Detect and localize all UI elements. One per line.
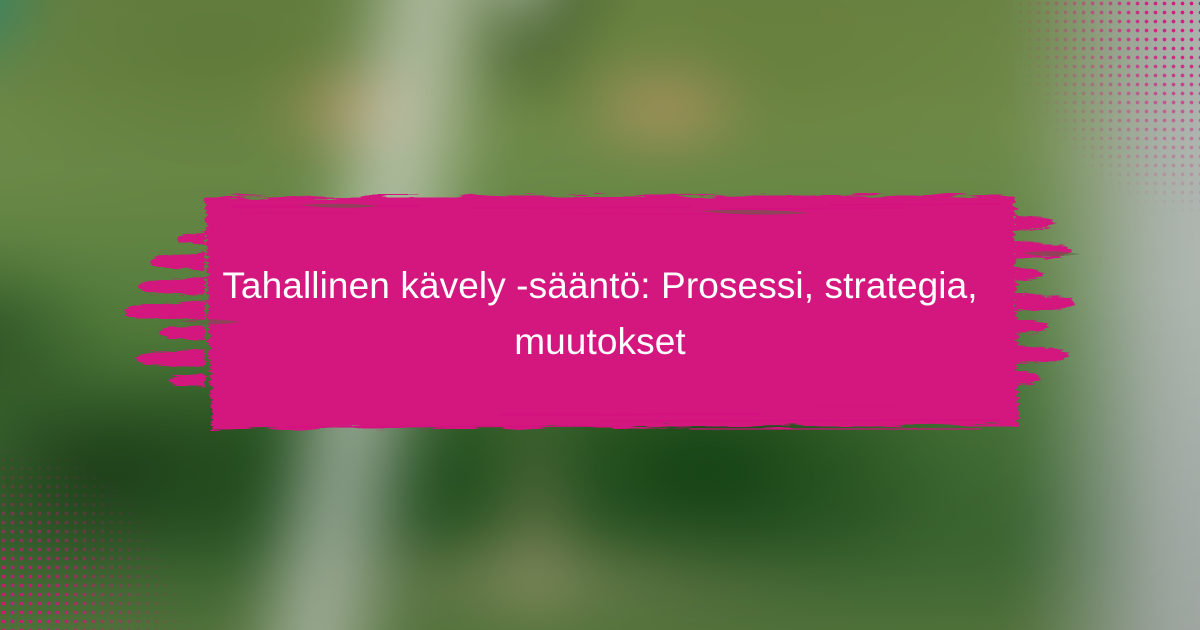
banner-title-block: Tahallinen kävely -sääntö: Prosessi, str… xyxy=(150,193,1050,431)
title-banner: Tahallinen kävely -sääntö: Prosessi, str… xyxy=(0,193,1200,431)
page-title-line-2: muutokset xyxy=(514,314,686,370)
page-title-line-1: Tahallinen kävely -sääntö: Prosessi, str… xyxy=(222,258,977,314)
share-card-canvas: Tahallinen kävely -sääntö: Prosessi, str… xyxy=(0,0,1200,630)
